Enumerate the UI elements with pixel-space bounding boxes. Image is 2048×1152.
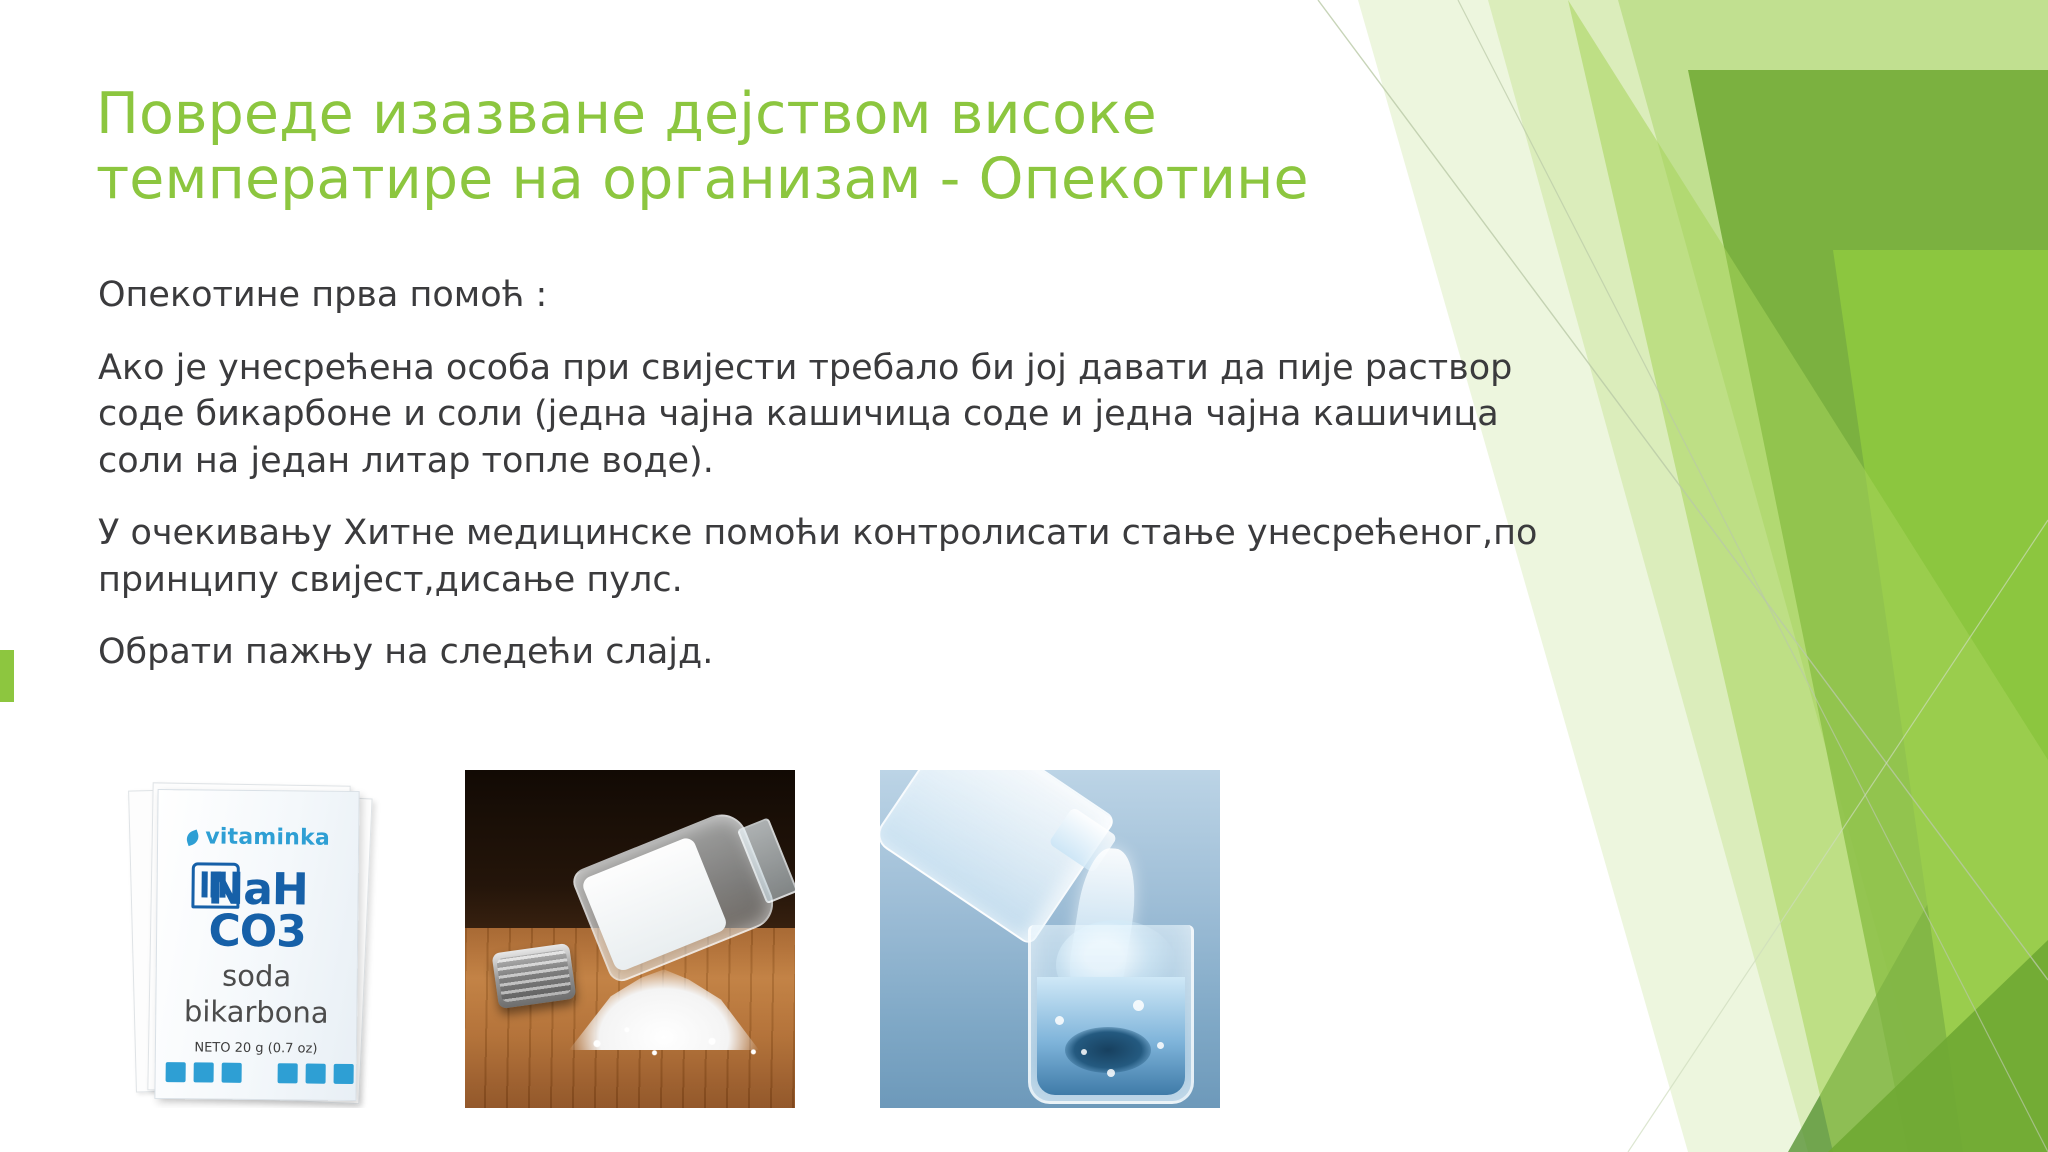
sachet-stack: vitaminka NaH CO3 soda bikarbona NETO 20…: [110, 770, 390, 1108]
jar-metal-lid: [491, 943, 576, 1009]
image-soda-packet: vitaminka NaH CO3 soda bikarbona NETO 20…: [110, 770, 390, 1108]
brand-label: vitaminka: [158, 824, 358, 851]
bubble: [1107, 1069, 1115, 1077]
net-weight-label: NETO 20 g (0.7 oz): [156, 1040, 356, 1057]
image-strip: vitaminka NaH CO3 soda bikarbona NETO 20…: [90, 770, 1420, 1130]
sachet-front: vitaminka NaH CO3 soda bikarbona NETO 20…: [154, 789, 359, 1101]
leaf-icon: [185, 829, 202, 846]
slide-body: Опекотине прва помоћ : Ако је унесрећена…: [98, 272, 1538, 702]
slide-title: Повреде изазване дејством високе темпера…: [96, 82, 1386, 212]
body-paragraph-4: Обрати пажњу на следећи слајд.: [98, 629, 1538, 676]
bubble: [1157, 1042, 1164, 1049]
chemical-formula: NaH CO3: [157, 868, 358, 954]
bubble: [1055, 1016, 1064, 1025]
formula-line-2: CO3: [157, 910, 357, 954]
bubble: [1081, 1049, 1087, 1055]
slide-title-line-2: температире на организам - Опекотине: [96, 147, 1386, 212]
body-paragraph-3: У очекивању Хитне медицинске помоћи конт…: [98, 510, 1538, 603]
scattered-salt-grains: [551, 1016, 781, 1062]
drinking-glass: [1028, 925, 1194, 1104]
water-depth-shadow: [1065, 1027, 1151, 1073]
glass-water: [1037, 977, 1185, 1095]
image-salt-jar: [465, 770, 795, 1108]
slide-canvas: Повреде изазване дејством високе темпера…: [0, 0, 2048, 1152]
body-paragraph-2: Ако је унесрећена особа при свијести тре…: [98, 345, 1538, 485]
decor-square-row: [166, 1062, 346, 1086]
product-name-line-2: bikarbona: [156, 994, 356, 1030]
slide-title-line-1: Повреде изазване дејством високе: [96, 82, 1386, 147]
image-water-glass: [880, 770, 1220, 1108]
product-name-line-1: soda: [157, 958, 357, 994]
bubble: [1133, 1000, 1144, 1011]
left-accent-bar: [0, 650, 14, 702]
body-paragraph-1: Опекотине прва помоћ :: [98, 272, 1538, 319]
brand-text: vitaminka: [205, 824, 330, 850]
